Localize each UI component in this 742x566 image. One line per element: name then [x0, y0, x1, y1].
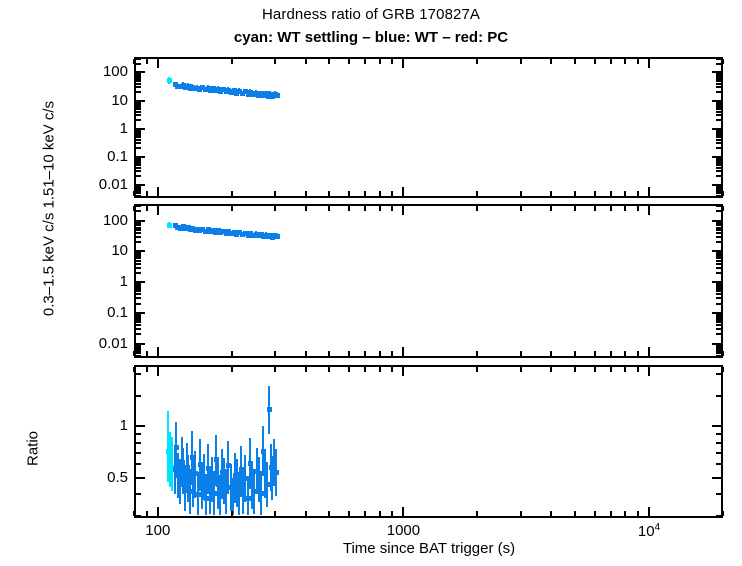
- y-minor-tick: [716, 167, 721, 169]
- y-tick-label: 100: [32, 63, 128, 80]
- y-major-tick: [136, 343, 145, 345]
- x-minor-tick: [624, 59, 626, 64]
- x-minor-tick: [364, 511, 366, 516]
- y-major-tick: [712, 100, 721, 102]
- y-minor-tick: [136, 267, 141, 269]
- x-minor-tick: [133, 511, 135, 516]
- y-minor-tick: [136, 83, 141, 85]
- y-minor-tick: [716, 106, 721, 108]
- x-major-tick: [648, 59, 650, 68]
- x-minor-tick: [610, 191, 612, 196]
- x-minor-tick: [520, 367, 522, 372]
- x-minor-tick: [610, 351, 612, 356]
- y-minor-tick: [716, 442, 721, 444]
- y-minor-tick: [136, 260, 141, 262]
- x-minor-tick: [364, 351, 366, 356]
- x-minor-tick: [231, 206, 233, 211]
- y-minor-tick: [716, 175, 721, 177]
- y-minor-tick: [716, 373, 721, 375]
- x-minor-tick: [391, 511, 393, 516]
- x-minor-tick: [574, 367, 576, 372]
- y-minor-tick: [136, 224, 141, 226]
- y-tick-label: 10: [32, 92, 128, 109]
- y-major-tick: [712, 71, 721, 73]
- x-minor-tick: [133, 367, 135, 372]
- y-minor-tick: [136, 136, 141, 138]
- y-minor-tick: [136, 86, 141, 88]
- y-minor-tick: [716, 303, 721, 305]
- x-minor-tick: [574, 59, 576, 64]
- y-minor-tick: [136, 324, 141, 326]
- y-minor-tick: [716, 352, 721, 354]
- y-minor-tick: [716, 321, 721, 323]
- y-minor-tick: [136, 192, 141, 194]
- y-minor-tick: [716, 80, 721, 82]
- x-minor-tick: [364, 367, 366, 372]
- x-minor-tick: [722, 351, 724, 356]
- data-point: [246, 496, 251, 501]
- x-minor-tick: [476, 206, 478, 211]
- x-minor-tick: [379, 191, 381, 196]
- y-minor-tick: [136, 288, 141, 290]
- x-minor-tick: [305, 206, 307, 211]
- y-minor-tick: [716, 63, 721, 65]
- panel-hard-band: [134, 57, 723, 198]
- x-minor-tick: [146, 351, 148, 356]
- y-major-tick: [136, 250, 145, 252]
- y-minor-tick: [716, 232, 721, 234]
- x-major-tick: [157, 367, 159, 376]
- y-minor-tick: [716, 286, 721, 288]
- y-minor-tick: [136, 78, 141, 80]
- y-minor-tick: [716, 224, 721, 226]
- y-minor-tick: [136, 373, 141, 375]
- x-minor-tick: [520, 206, 522, 211]
- y-minor-tick: [716, 210, 721, 212]
- y-tick-label: 1: [32, 120, 128, 137]
- y-minor-tick: [716, 139, 721, 141]
- x-minor-tick: [274, 351, 276, 356]
- x-minor-tick: [520, 191, 522, 196]
- x-minor-tick: [364, 191, 366, 196]
- x-minor-tick: [624, 367, 626, 372]
- x-major-tick: [157, 347, 159, 356]
- data-point: [196, 492, 201, 497]
- x-minor-tick: [391, 59, 393, 64]
- y-minor-tick: [136, 255, 141, 257]
- x-minor-tick: [274, 367, 276, 372]
- x-minor-tick: [574, 351, 576, 356]
- y-minor-tick: [716, 229, 721, 231]
- y-minor-tick: [716, 348, 721, 350]
- y-minor-tick: [716, 78, 721, 80]
- x-minor-tick: [305, 367, 307, 372]
- y-minor-tick: [136, 321, 141, 323]
- x-major-tick: [648, 187, 650, 196]
- y-minor-tick: [716, 290, 721, 292]
- x-minor-tick: [391, 351, 393, 356]
- y-tick-label: 0.01: [32, 176, 128, 193]
- y-minor-tick: [716, 452, 721, 454]
- x-minor-tick: [146, 191, 148, 196]
- y-minor-tick: [136, 352, 141, 354]
- y-minor-tick: [716, 136, 721, 138]
- x-minor-tick: [637, 191, 639, 196]
- y-tick-label: 100: [32, 212, 128, 229]
- y-minor-tick: [136, 170, 141, 172]
- y-minor-tick: [716, 324, 721, 326]
- y-minor-tick: [136, 493, 141, 495]
- x-minor-tick: [722, 511, 724, 516]
- y-tick-label: 0.01: [32, 335, 128, 352]
- y-minor-tick: [136, 91, 141, 93]
- x-minor-tick: [146, 59, 148, 64]
- y-major-tick: [136, 220, 145, 222]
- y-minor-tick: [136, 227, 141, 229]
- y-minor-tick: [136, 257, 141, 259]
- y-minor-tick: [716, 293, 721, 295]
- y-minor-tick: [716, 142, 721, 144]
- y-minor-tick: [136, 290, 141, 292]
- y-minor-tick: [136, 297, 141, 299]
- x-minor-tick: [274, 206, 276, 211]
- y-minor-tick: [136, 303, 141, 305]
- x-minor-tick: [348, 206, 350, 211]
- x-minor-tick: [722, 191, 724, 196]
- x-minor-tick: [550, 206, 552, 211]
- y-minor-tick: [716, 355, 721, 357]
- y-minor-tick: [136, 108, 141, 110]
- y-minor-tick: [716, 58, 721, 60]
- y-minor-tick: [716, 111, 721, 113]
- y-minor-tick: [136, 147, 141, 149]
- y-minor-tick: [136, 236, 141, 238]
- x-minor-tick: [379, 206, 381, 211]
- data-point: [267, 407, 272, 412]
- x-minor-tick: [231, 351, 233, 356]
- y-major-tick: [712, 156, 721, 158]
- y-minor-tick: [136, 350, 141, 352]
- y-minor-tick: [136, 111, 141, 113]
- x-minor-tick: [637, 206, 639, 211]
- y-minor-tick: [136, 190, 141, 192]
- y-minor-tick: [716, 86, 721, 88]
- x-minor-tick: [231, 191, 233, 196]
- x-minor-tick: [328, 191, 330, 196]
- y-major-tick: [136, 425, 145, 427]
- y-minor-tick: [716, 350, 721, 352]
- y-minor-tick: [716, 255, 721, 257]
- x-minor-tick: [610, 59, 612, 64]
- plot-area-hardness-ratio: [136, 367, 721, 516]
- x-minor-tick: [231, 511, 233, 516]
- y-minor-tick: [716, 195, 721, 197]
- y-minor-tick: [716, 317, 721, 319]
- plot-area-soft-band: [136, 206, 721, 356]
- y-minor-tick: [716, 493, 721, 495]
- x-minor-tick: [594, 191, 596, 196]
- y-minor-tick: [136, 355, 141, 357]
- y-minor-tick: [136, 442, 141, 444]
- y-minor-tick: [716, 263, 721, 265]
- x-minor-tick: [594, 511, 596, 516]
- y-minor-tick: [716, 515, 721, 517]
- x-minor-tick: [348, 511, 350, 516]
- x-minor-tick: [520, 59, 522, 64]
- x-minor-tick: [379, 351, 381, 356]
- x-minor-tick: [328, 351, 330, 356]
- y-major-tick: [712, 312, 721, 314]
- plot-area-hard-band: [136, 59, 721, 196]
- x-minor-tick: [637, 351, 639, 356]
- y-minor-tick: [136, 286, 141, 288]
- panel-hardness-ratio: [134, 365, 723, 518]
- x-minor-tick: [146, 367, 148, 372]
- x-minor-tick: [594, 367, 596, 372]
- x-minor-tick: [610, 367, 612, 372]
- x-minor-tick: [133, 59, 135, 64]
- figure-root: Hardness ratio of GRB 170827A cyan: WT s…: [0, 0, 742, 566]
- x-minor-tick: [476, 351, 478, 356]
- x-minor-tick: [274, 191, 276, 196]
- x-minor-tick: [637, 511, 639, 516]
- y-minor-tick: [136, 272, 141, 274]
- x-minor-tick: [550, 351, 552, 356]
- x-minor-tick: [722, 59, 724, 64]
- x-minor-tick: [305, 59, 307, 64]
- x-major-tick: [648, 206, 650, 215]
- y-minor-tick: [136, 119, 141, 121]
- y-major-tick: [136, 71, 145, 73]
- x-minor-tick: [364, 206, 366, 211]
- x-minor-tick: [391, 206, 393, 211]
- y-minor-tick: [136, 333, 141, 335]
- x-minor-tick: [624, 191, 626, 196]
- y-minor-tick: [136, 515, 141, 517]
- y-minor-tick: [716, 433, 721, 435]
- x-minor-tick: [274, 511, 276, 516]
- x-minor-tick: [574, 511, 576, 516]
- y-minor-tick: [136, 229, 141, 231]
- y-minor-tick: [136, 58, 141, 60]
- y-minor-tick: [136, 452, 141, 454]
- y-minor-tick: [136, 348, 141, 350]
- y-minor-tick: [136, 80, 141, 82]
- x-minor-tick: [476, 191, 478, 196]
- x-minor-tick: [476, 367, 478, 372]
- y-major-tick: [712, 425, 721, 427]
- x-minor-tick: [379, 367, 381, 372]
- x-minor-tick: [328, 511, 330, 516]
- x-minor-tick: [476, 511, 478, 516]
- x-minor-tick: [391, 367, 393, 372]
- x-minor-tick: [550, 191, 552, 196]
- x-minor-tick: [610, 511, 612, 516]
- x-minor-tick: [231, 59, 233, 64]
- y-minor-tick: [136, 142, 141, 144]
- y-minor-tick: [716, 395, 721, 397]
- y-minor-tick: [716, 267, 721, 269]
- x-minor-tick: [146, 511, 148, 516]
- y-minor-tick: [136, 293, 141, 295]
- y-minor-tick: [136, 263, 141, 265]
- y-minor-tick: [716, 227, 721, 229]
- x-minor-tick: [348, 367, 350, 372]
- y-minor-tick: [716, 297, 721, 299]
- y-minor-tick: [136, 195, 141, 197]
- y-minor-tick: [716, 260, 721, 262]
- x-minor-tick: [146, 206, 148, 211]
- y-major-tick: [712, 184, 721, 186]
- y-minor-tick: [716, 319, 721, 321]
- y-minor-tick: [136, 134, 141, 136]
- y-minor-tick: [716, 108, 721, 110]
- x-major-tick: [157, 59, 159, 68]
- data-point: [275, 234, 280, 239]
- y-minor-tick: [716, 333, 721, 335]
- y-minor-tick: [716, 164, 721, 166]
- x-major-tick: [402, 206, 404, 215]
- panel-soft-band: [134, 204, 723, 358]
- y-minor-tick: [716, 205, 721, 207]
- x-minor-tick: [550, 367, 552, 372]
- y-major-tick: [136, 281, 145, 283]
- y-minor-tick: [136, 167, 141, 169]
- y-minor-tick: [716, 241, 721, 243]
- y-minor-tick: [716, 162, 721, 164]
- x-minor-tick: [722, 206, 724, 211]
- y-minor-tick: [136, 328, 141, 330]
- x-minor-tick: [594, 351, 596, 356]
- x-major-tick: [648, 367, 650, 376]
- x-major-tick: [648, 507, 650, 516]
- y-major-tick: [136, 156, 145, 158]
- y-major-tick: [136, 128, 145, 130]
- x-major-tick: [402, 347, 404, 356]
- x-minor-tick: [624, 351, 626, 356]
- y-tick-label: 0.5: [32, 469, 128, 486]
- x-minor-tick: [364, 59, 366, 64]
- x-minor-tick: [550, 59, 552, 64]
- y-minor-tick: [716, 272, 721, 274]
- x-minor-tick: [594, 206, 596, 211]
- y-minor-tick: [136, 232, 141, 234]
- x-minor-tick: [379, 59, 381, 64]
- y-major-tick: [712, 250, 721, 252]
- y-minor-tick: [716, 147, 721, 149]
- y-minor-tick: [716, 190, 721, 192]
- y-major-tick: [712, 220, 721, 222]
- x-major-tick: [157, 507, 159, 516]
- y-minor-tick: [136, 114, 141, 116]
- y-minor-tick: [716, 288, 721, 290]
- y-minor-tick: [716, 119, 721, 121]
- y-minor-tick: [716, 134, 721, 136]
- x-minor-tick: [574, 206, 576, 211]
- y-minor-tick: [716, 114, 721, 116]
- y-minor-tick: [716, 83, 721, 85]
- y-tick-label: 10: [32, 242, 128, 259]
- x-minor-tick: [274, 59, 276, 64]
- y-minor-tick: [716, 236, 721, 238]
- y-minor-tick: [136, 433, 141, 435]
- y-major-tick: [712, 343, 721, 345]
- y-tick-label: 0.1: [32, 148, 128, 165]
- y-minor-tick: [136, 210, 141, 212]
- y-major-tick: [136, 477, 145, 479]
- y-minor-tick: [136, 162, 141, 164]
- x-minor-tick: [624, 511, 626, 516]
- y-minor-tick: [136, 63, 141, 65]
- y-minor-tick: [136, 175, 141, 177]
- x-minor-tick: [594, 59, 596, 64]
- x-minor-tick: [550, 511, 552, 516]
- x-minor-tick: [348, 351, 350, 356]
- x-minor-tick: [133, 206, 135, 211]
- y-minor-tick: [716, 463, 721, 465]
- y-tick-label: 1: [32, 417, 128, 434]
- x-tick-label: 1000: [358, 522, 448, 539]
- data-point: [174, 445, 179, 450]
- y-major-tick: [136, 312, 145, 314]
- x-minor-tick: [305, 191, 307, 196]
- x-minor-tick: [328, 59, 330, 64]
- legend-subtitle: cyan: WT settling – blue: WT – red: PC: [0, 29, 742, 46]
- x-minor-tick: [520, 511, 522, 516]
- y-major-tick: [712, 477, 721, 479]
- x-minor-tick: [133, 351, 135, 356]
- y-major-tick: [712, 281, 721, 283]
- y-minor-tick: [136, 205, 141, 207]
- x-minor-tick: [379, 511, 381, 516]
- y-minor-tick: [136, 395, 141, 397]
- y-minor-tick: [136, 463, 141, 465]
- x-minor-tick: [624, 206, 626, 211]
- x-minor-tick: [348, 191, 350, 196]
- x-major-tick: [402, 507, 404, 516]
- x-minor-tick: [305, 511, 307, 516]
- x-minor-tick: [391, 191, 393, 196]
- x-minor-tick: [348, 59, 350, 64]
- y-tick-label: 0.1: [32, 304, 128, 321]
- x-major-tick: [157, 206, 159, 215]
- page-title: Hardness ratio of GRB 170827A: [0, 6, 742, 23]
- y-tick-label: 1: [32, 273, 128, 290]
- y-minor-tick: [716, 328, 721, 330]
- y-major-tick: [136, 100, 145, 102]
- y-minor-tick: [136, 106, 141, 108]
- x-minor-tick: [722, 367, 724, 372]
- y-major-tick: [136, 184, 145, 186]
- y-minor-tick: [136, 139, 141, 141]
- x-major-tick: [402, 59, 404, 68]
- x-minor-tick: [637, 59, 639, 64]
- y-major-tick: [712, 128, 721, 130]
- y-minor-tick: [716, 170, 721, 172]
- y-minor-tick: [716, 192, 721, 194]
- y-minor-tick: [136, 317, 141, 319]
- x-minor-tick: [328, 206, 330, 211]
- y-minor-tick: [716, 257, 721, 259]
- x-minor-tick: [133, 191, 135, 196]
- x-major-tick: [402, 367, 404, 376]
- x-minor-tick: [637, 367, 639, 372]
- y-minor-tick: [136, 241, 141, 243]
- x-tick-label: 104: [604, 522, 694, 540]
- data-point: [275, 93, 280, 98]
- x-axis-label: Time since BAT trigger (s): [134, 540, 724, 557]
- x-minor-tick: [574, 191, 576, 196]
